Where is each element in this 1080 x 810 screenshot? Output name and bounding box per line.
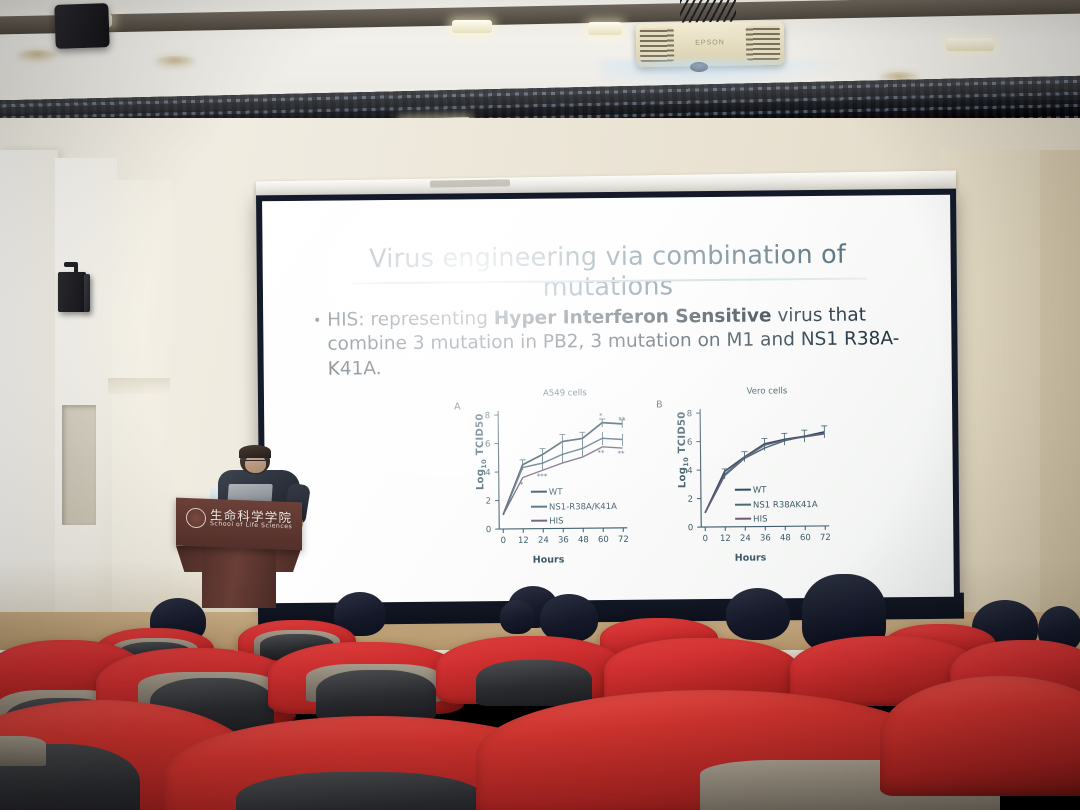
wall-speaker-side [84,274,90,312]
panel-a-legend: WT NS1-R38A/K41A HIS [531,487,617,527]
svg-text:36: 36 [760,533,771,543]
sig-mark-2: *** [537,473,548,481]
svg-text:72: 72 [820,533,831,543]
svg-text:24: 24 [538,536,549,546]
presenter-hair [239,445,271,458]
slide-figure: A A549 cells Log10 TCID50 Hours [276,383,942,589]
svg-text:NS1 R38AK41A: NS1 R38AK41A [753,500,818,511]
bullet-dot-icon [315,318,319,322]
svg-text:WT: WT [753,485,767,495]
svg-text:WT: WT [549,487,563,497]
ceiling-light-4 [946,38,994,51]
chart-panel-b: B Vero cells Log10 TCID50 Hours [656,383,954,586]
svg-text:24: 24 [740,534,751,544]
slide-bullet-text: HIS: representing Hyper Interferon Sensi… [327,303,936,382]
audience-head [500,600,534,634]
seat-cushion [236,772,486,810]
presenter-glasses-icon [244,460,267,465]
svg-text:60: 60 [598,535,609,545]
svg-text:72: 72 [618,535,629,545]
slide-bullet-item: HIS: representing Hyper Interferon Sensi… [315,303,936,382]
svg-text:36: 36 [558,535,569,545]
svg-text:60: 60 [800,533,811,543]
downlight-1 [18,50,56,61]
panel-b-legend: WT NS1 R38AK41A HIS [735,485,818,525]
wall-speaker-icon [58,272,86,312]
svg-text:48: 48 [780,533,791,543]
left-wall-step [108,378,170,394]
svg-text:48: 48 [578,535,589,545]
projection-screen: Virus engineering via combination of mut… [262,195,954,604]
svg-text:12: 12 [518,536,529,546]
sig-mark-1: * [520,481,524,489]
seat-cushion [476,660,592,706]
panel-b-plot: 8 6 4 2 0 [670,394,842,561]
university-seal-icon [186,508,206,529]
seat-cushion [316,670,436,720]
sig-mark-3: * [599,412,603,420]
sig-mark-4: ** [618,416,626,424]
svg-text:0: 0 [688,523,694,533]
slide-title: Virus engineering via combination of mut… [323,239,894,304]
ceiling-light-3 [588,22,622,35]
panel-a-plot: 8 6 4 2 0 [468,396,640,563]
svg-text:HIS: HIS [549,516,563,526]
panel-b-letter: B [656,399,663,410]
panel-a-letter: A [454,401,461,412]
screen-housing-slot [430,179,510,187]
bullet-bold-term: Hyper Interferon Sensitive [494,305,772,329]
svg-text:8: 8 [485,411,491,421]
svg-text:6: 6 [687,438,693,448]
svg-text:0: 0 [486,525,492,535]
svg-text:4: 4 [687,466,693,476]
svg-text:12: 12 [720,534,731,544]
downlight-2 [156,56,194,67]
ceiling-light-2 [452,20,492,33]
svg-text:0: 0 [703,534,709,544]
svg-text:2: 2 [688,495,694,505]
svg-text:2: 2 [486,497,492,507]
seat-trim [0,736,46,766]
projector-brand-label: EPSON [695,39,725,47]
svg-text:NS1-R38A/K41A: NS1-R38A/K41A [549,502,617,513]
svg-text:0: 0 [501,536,507,546]
lecture-hall-photo: EPSON Virus engineering via combination … [0,0,1080,810]
wall-niche [62,405,96,525]
svg-text:6: 6 [485,440,491,450]
bullet-prefix: HIS: representing [327,308,494,331]
sig-mark-5: ** [597,449,605,457]
ceiling-speaker-icon [54,3,110,49]
svg-text:HIS: HIS [753,514,767,524]
slide: Virus engineering via combination of mut… [262,195,954,604]
svg-text:8: 8 [687,409,693,419]
podium-base [202,546,276,608]
sig-mark-6: ** [617,450,625,458]
audience-head [540,594,598,642]
audience-head [726,588,790,640]
svg-text:4: 4 [485,468,491,478]
